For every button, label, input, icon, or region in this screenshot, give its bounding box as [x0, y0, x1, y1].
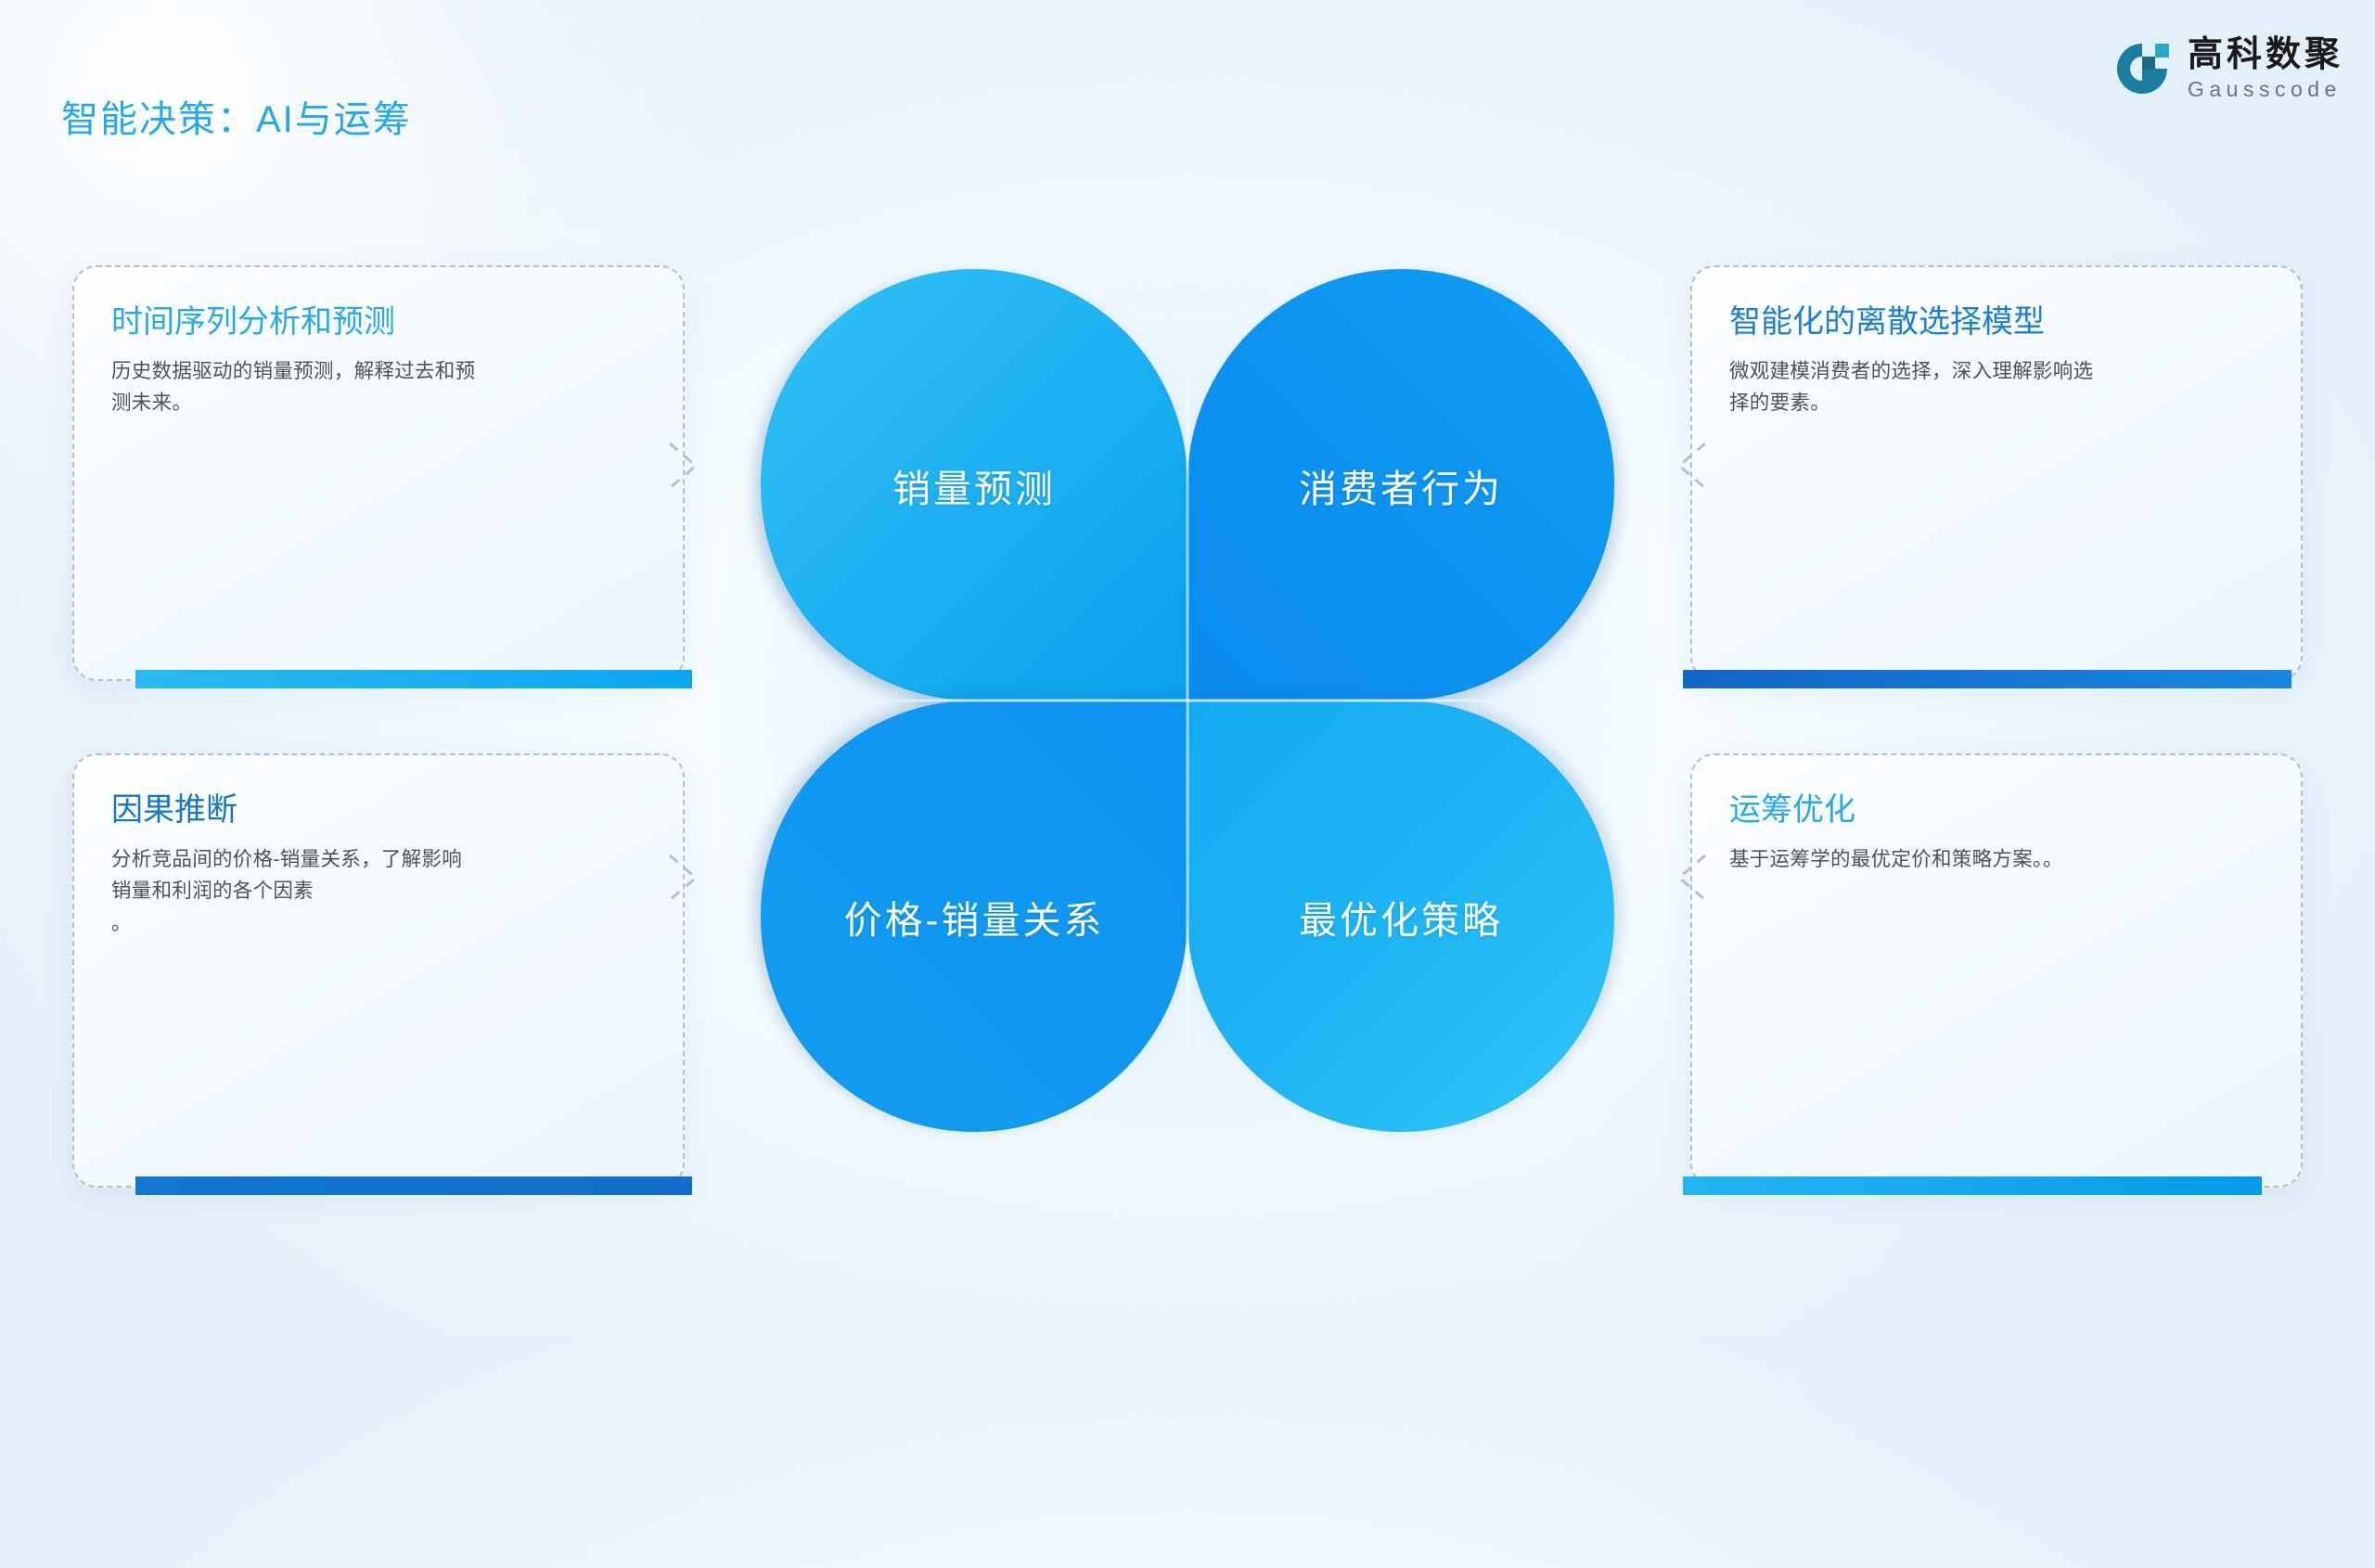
card-title: 因果推断 [111, 790, 646, 830]
card-title: 智能化的离散选择模型 [1729, 302, 2264, 342]
petal-consumer-behavior[interactable]: 消费者行为 [1187, 269, 1614, 700]
card-time-series[interactable]: 时间序列分析和预测 历史数据驱动的销量预测，解释过去和预 测未来。 [72, 265, 685, 681]
card-body: 分析竞品间的价格-销量关系，了解影响 销量和利润的各个因素 。 [111, 843, 646, 940]
petal-label: 消费者行为 [1299, 457, 1503, 513]
card-title: 时间序列分析和预测 [111, 302, 646, 342]
card-body: 历史数据驱动的销量预测，解释过去和预 测未来。 [111, 355, 646, 420]
card-content: 时间序列分析和预测 历史数据驱动的销量预测，解释过去和预 测未来。 [74, 267, 683, 679]
card-discrete-choice[interactable]: 智能化的离散选择模型 微观建模消费者的选择，深入理解影响选 择的要素。 [1690, 265, 2303, 681]
card-causal-inference[interactable]: 因果推断 分析竞品间的价格-销量关系，了解影响 销量和利润的各个因素 。 [72, 753, 685, 1188]
petal-optimization-strategy[interactable]: 最优化策略 [1187, 700, 1614, 1132]
logo-text-en: Gausscode [2188, 79, 2343, 100]
page-title: 智能决策：AI与运筹 [61, 89, 412, 143]
brand-logo: 高科数聚 Gausscode [2113, 37, 2343, 100]
card-accent-bar [135, 670, 692, 688]
petal-price-sales-relation[interactable]: 价格-销量关系 [761, 700, 1187, 1132]
card-content: 因果推断 分析竞品间的价格-销量关系，了解影响 销量和利润的各个因素 。 [74, 755, 683, 1186]
petal-sales-forecast[interactable]: 销量预测 [761, 269, 1187, 700]
petal-label: 价格-销量关系 [844, 889, 1105, 945]
logo-text: 高科数聚 Gausscode [2188, 37, 2343, 100]
card-accent-bar [1683, 670, 2292, 688]
card-body: 基于运筹学的最优定价和策略方案。。 [1729, 843, 2264, 876]
petal-label: 销量预测 [892, 457, 1056, 513]
card-content: 运筹优化 基于运筹学的最优定价和策略方案。。 [1692, 755, 2301, 1186]
card-content: 智能化的离散选择模型 微观建模消费者的选择，深入理解影响选 择的要素。 [1692, 267, 2301, 679]
card-accent-bar [135, 1176, 692, 1195]
petal-label: 最优化策略 [1299, 889, 1503, 945]
gausscode-logo-mark-icon [2113, 40, 2171, 97]
flower-horizontal-seam [795, 700, 1580, 702]
logo-text-cn: 高科数聚 [2188, 37, 2343, 72]
card-title: 运筹优化 [1729, 790, 2264, 830]
card-body: 微观建模消费者的选择，深入理解影响选 择的要素。 [1729, 355, 2264, 420]
card-accent-bar [1683, 1176, 2262, 1195]
flower-diagram: 销量预测 消费者行为 价格-销量关系 最优化策略 [761, 269, 1614, 1132]
card-operations-optimization[interactable]: 运筹优化 基于运筹学的最优定价和策略方案。。 [1690, 753, 2303, 1188]
